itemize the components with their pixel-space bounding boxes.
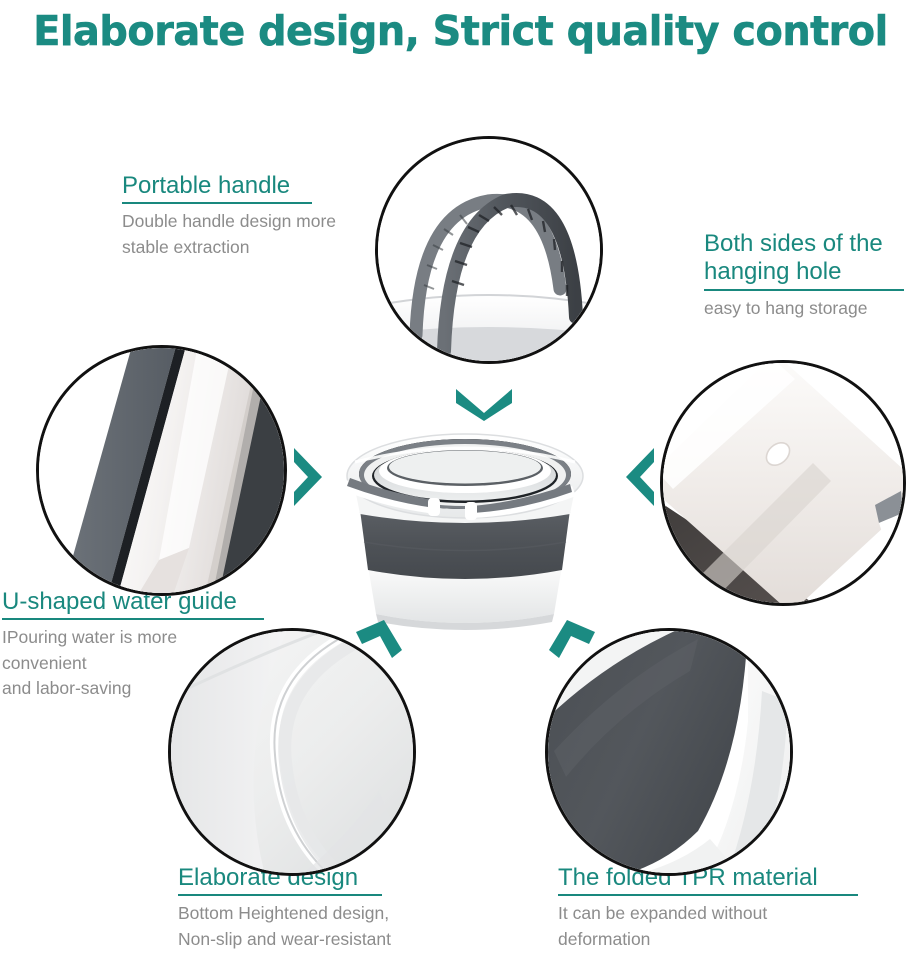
chevron-up-left-icon [354, 620, 406, 670]
caption-body-line: Bottom Heightened design, [178, 901, 391, 926]
caption-body-line: deformation [558, 927, 858, 952]
caption-heading: hanging hole [704, 258, 904, 286]
caption-body-line: Non-slip and wear-resistant [178, 927, 391, 952]
page-title: Elaborate design, Strict quality control [33, 7, 888, 55]
caption-underline [704, 289, 904, 291]
infographic-page: Elaborate design, Strict quality control… [0, 0, 920, 959]
chevron-left-icon [622, 446, 658, 508]
caption-heading: Both sides of the [704, 230, 904, 258]
caption-body-line: Double handle design more [122, 209, 336, 234]
chevron-up-right-icon [545, 620, 597, 670]
caption-tpr-material: The folded TPR material It can be expand… [558, 864, 858, 952]
caption-body-line: easy to hang storage [704, 296, 904, 321]
caption-portable-handle: Portable handle Double handle design mor… [122, 172, 336, 260]
water-guide-illustration [39, 348, 284, 593]
caption-body-line: stable extraction [122, 235, 336, 260]
caption-elaborate-design: Elaborate design Bottom Heightened desig… [178, 864, 391, 952]
caption-hanging-hole: Both sides of the hanging hole easy to h… [704, 230, 904, 321]
photo-handle-detail [375, 136, 603, 364]
caption-underline [558, 894, 858, 896]
collapsible-bucket-illustration [320, 418, 610, 638]
caption-body-line: It can be expanded without [558, 901, 858, 926]
handle-detail-illustration [378, 139, 600, 361]
caption-underline [178, 894, 382, 896]
chevron-right-icon [290, 446, 326, 508]
photo-water-guide-detail [36, 345, 287, 596]
caption-underline [122, 202, 312, 204]
caption-underline [2, 618, 264, 620]
product-image-collapsible-bucket [320, 418, 610, 638]
hanging-hole-illustration [663, 363, 903, 603]
page-title-bar: Elaborate design, Strict quality control [0, 0, 920, 62]
caption-heading: Portable handle [122, 172, 336, 200]
chevron-down-icon [452, 385, 516, 421]
photo-hanging-hole-detail [660, 360, 906, 606]
